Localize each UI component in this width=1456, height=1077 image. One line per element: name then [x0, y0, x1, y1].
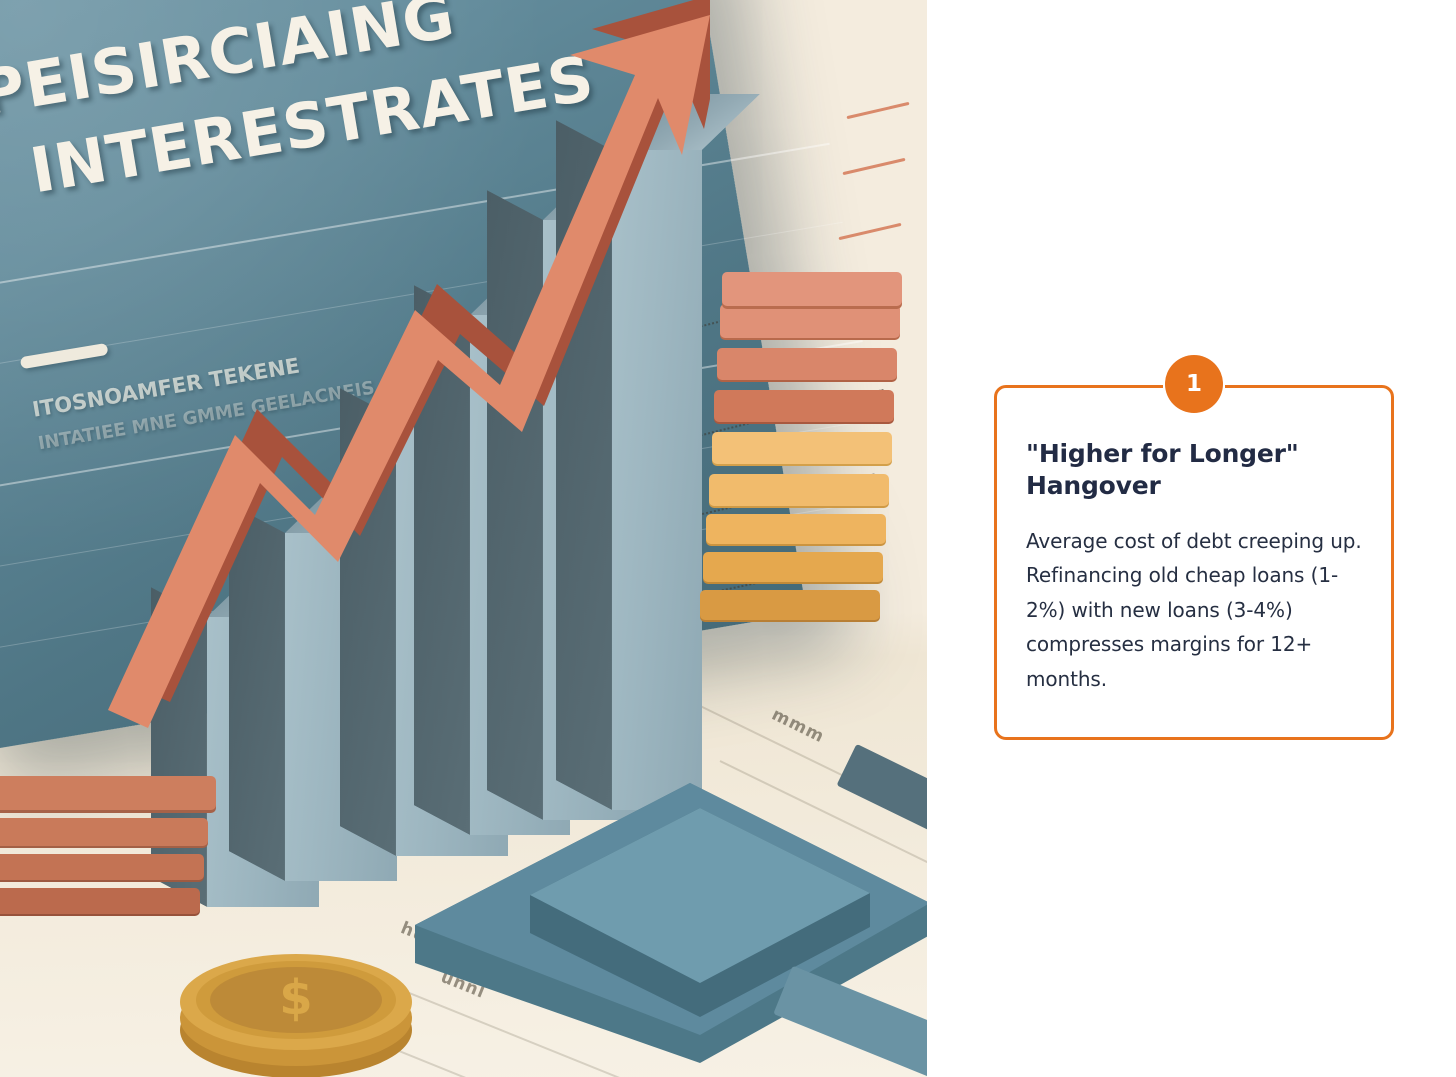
tile-terracotta: [714, 390, 894, 422]
card-title: "Higher for Longer" Hangover: [1026, 438, 1367, 502]
tile-amber: [709, 474, 889, 506]
tile-amber: [706, 514, 886, 544]
slide-root: mmm hull unnl PEISIRCIAING INTERESTRATES…: [0, 0, 1456, 1077]
tile-terracotta: [720, 304, 900, 338]
tile-terracotta: [0, 888, 200, 914]
card-panel: 1 "Higher for Longer" Hangover Average c…: [927, 0, 1456, 1077]
illustration-panel: mmm hull unnl PEISIRCIAING INTERESTRATES…: [0, 0, 927, 1077]
arrow-svg: [70, 0, 710, 740]
coin-svg: $: [176, 922, 416, 1077]
tile-terracotta: [0, 854, 204, 880]
card-content: "Higher for Longer" Hangover Average cos…: [1026, 438, 1367, 696]
tile-amber: [703, 552, 883, 582]
card-body: Average cost of debt creeping up. Refina…: [1026, 524, 1367, 696]
gold-coin: $: [176, 922, 416, 1077]
tile-terracotta: [0, 818, 208, 846]
tile-amber: [712, 432, 892, 464]
coin-currency-symbol: $: [279, 970, 312, 1026]
tile-terracotta: [717, 348, 897, 380]
rising-trend-arrow: [70, 0, 710, 720]
tile-terracotta: [0, 776, 216, 810]
tile-terracotta: [722, 272, 902, 306]
insight-card[interactable]: 1 "Higher for Longer" Hangover Average c…: [994, 385, 1394, 740]
card-number-badge: 1: [1165, 355, 1223, 413]
tile-amber: [700, 590, 880, 620]
